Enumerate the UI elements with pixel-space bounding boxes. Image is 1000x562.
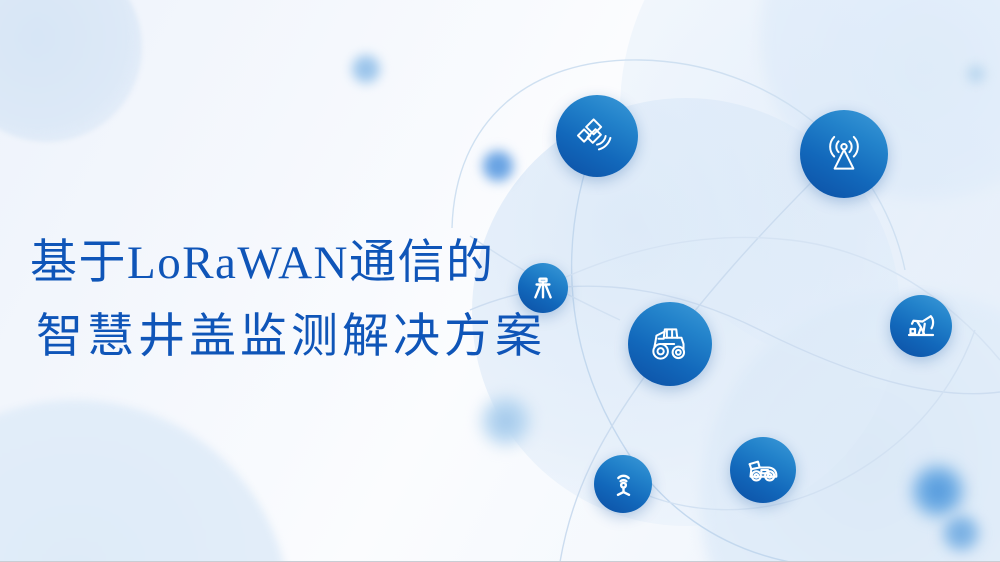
background-blob-top-left	[0, 0, 142, 142]
oil-pumpjack-icon	[903, 308, 939, 344]
accent-dot	[479, 147, 517, 185]
tractor-icon	[645, 319, 695, 369]
work-vehicle-icon	[743, 450, 783, 490]
node-tractor[interactable]	[628, 302, 712, 386]
accent-dot	[349, 52, 383, 86]
accent-dot	[908, 461, 968, 521]
node-radio-tower[interactable]	[800, 110, 888, 198]
node-satellite[interactable]	[556, 95, 638, 177]
wireless-sensor-icon	[607, 468, 640, 501]
satellite-icon	[574, 113, 620, 159]
node-oil-pumpjack[interactable]	[890, 295, 952, 357]
background-blob-bottom-left	[0, 400, 290, 562]
node-wireless-sensor[interactable]	[594, 455, 652, 513]
title-line-1: 基于LoRaWAN通信的	[30, 226, 590, 300]
background-blob-bottom-right	[700, 291, 1000, 562]
title-slide: 基于LoRaWAN通信的 智慧井盖监测解决方案	[0, 0, 1000, 562]
accent-dot	[962, 60, 990, 88]
accent-dot	[940, 512, 982, 554]
title-line-2: 智慧井盖监测解决方案	[30, 300, 590, 374]
slide-title: 基于LoRaWAN通信的 智慧井盖监测解决方案	[30, 226, 590, 374]
radio-tower-icon	[819, 129, 869, 179]
node-work-vehicle[interactable]	[730, 437, 796, 503]
accent-dot	[478, 393, 534, 449]
